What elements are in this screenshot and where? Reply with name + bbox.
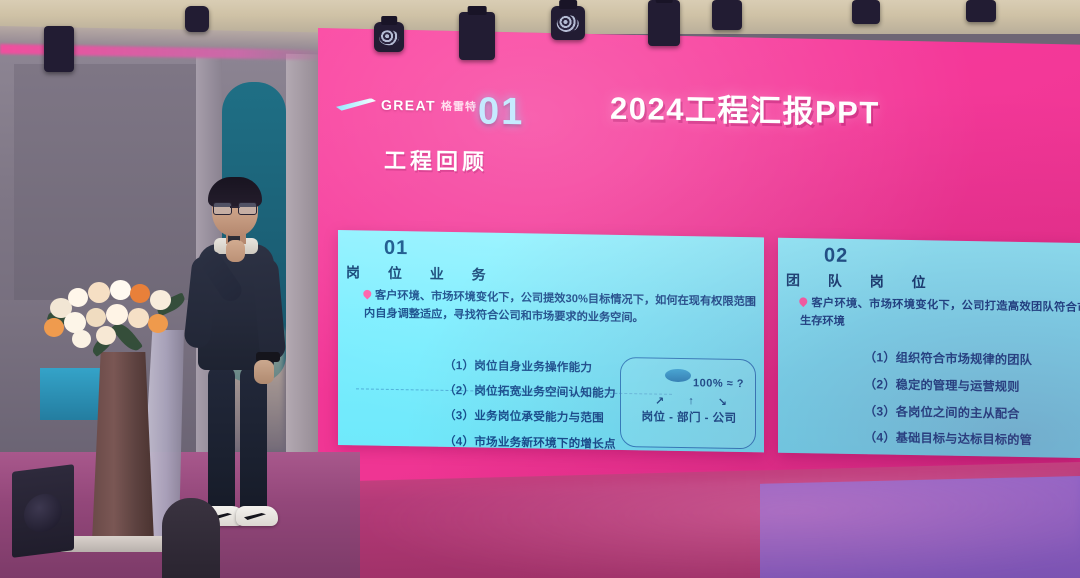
glasses-icon — [213, 202, 257, 213]
stage-light-icon — [459, 12, 495, 60]
content-card-01: 01 岗 位 业 务 客户环境、市场环境变化下，公司提效30%目标情况下，如何在… — [338, 230, 764, 452]
stage-light-icon — [852, 0, 880, 24]
diagram-percent: 100% ≈ ? — [693, 377, 744, 390]
card-list: （1）组织符合市场规律的团队 （2）稳定的管理与运营规则 （3）各岗位之间的主从… — [824, 350, 1080, 463]
deck-title: 2024工程汇报PPT — [610, 83, 880, 133]
bullet-icon — [362, 288, 373, 299]
swoosh-icon — [336, 97, 376, 111]
diagram-box: 100% ≈ ? ↗ ↑ ↘ 岗位 - 部门 - 公司 — [620, 357, 756, 449]
conference-photo: GREAT 格雷特 01 2024工程汇报PPT 工程回顾 01 岗 位 业 务… — [0, 0, 1080, 578]
stage-light-icon — [551, 6, 585, 40]
pedestal-base — [60, 536, 178, 552]
flower-pedestal — [92, 352, 154, 542]
card-heading: 岗 位 业 务 — [346, 262, 498, 285]
brand-latin: GREAT — [381, 97, 436, 114]
side-display-box — [40, 368, 104, 420]
deck-subtitle: 工程回顾 — [384, 143, 488, 177]
floor-sheen — [360, 470, 1080, 578]
list-item: （2）稳定的管理与运营规则 — [864, 378, 1080, 396]
section-number: 01 — [478, 90, 524, 134]
card-number: 01 — [384, 237, 408, 260]
arrow-down-right-icon: ↘ — [718, 396, 727, 409]
presenter — [186, 182, 290, 542]
card-heading: 团 队 岗 位 — [786, 270, 938, 293]
card-paragraph: 客户环境、市场环境变化下，公司提效30%目标情况下，如何在现有权限范围内自身调整… — [364, 286, 756, 329]
presenter-hand-right — [254, 360, 274, 384]
presenter-legs — [208, 366, 270, 512]
stage-light-icon — [648, 0, 680, 46]
led-screen: GREAT 格雷特 01 2024工程汇报PPT 工程回顾 01 岗 位 业 务… — [318, 28, 1080, 515]
arrow-up-icon: ↑ — [688, 395, 694, 408]
stage-light-icon — [374, 22, 404, 52]
loudspeaker — [12, 464, 74, 558]
stage-light-icon — [712, 0, 742, 30]
arrow-up-right-icon: ↗ — [655, 395, 664, 408]
stage-light-icon — [966, 0, 996, 22]
brand-logo: GREAT 格雷特 — [336, 96, 477, 114]
stage-light-icon — [185, 6, 209, 32]
card-number: 02 — [824, 244, 848, 267]
list-item: （1）组织符合市场规律的团队 — [864, 351, 1080, 369]
list-item: （3）各岗位之间的主从配合 — [864, 405, 1080, 423]
brand-chinese: 格雷特 — [441, 98, 477, 115]
card-paragraph: 客户环境、市场环境变化下，公司打造高效团队符合市场生存环境 — [800, 294, 1080, 336]
ellipse-icon — [665, 369, 691, 382]
sneaker-right — [236, 506, 278, 526]
flower-arrangement — [44, 268, 202, 360]
content-card-02: 02 团 队 岗 位 客户环境、市场环境变化下，公司打造高效团队符合市场生存环境… — [778, 238, 1080, 458]
audience-head — [162, 498, 220, 578]
lighting-rig — [0, 0, 1080, 84]
list-item: （4）基础目标与达标目标的管 — [864, 432, 1080, 450]
diagram-arrows: ↗ ↑ ↘ — [643, 394, 739, 409]
bullet-icon — [798, 296, 809, 307]
presenter-hand — [226, 240, 245, 262]
diagram-chain: 岗位 - 部门 - 公司 — [631, 408, 747, 426]
stage-light-icon — [44, 26, 74, 72]
